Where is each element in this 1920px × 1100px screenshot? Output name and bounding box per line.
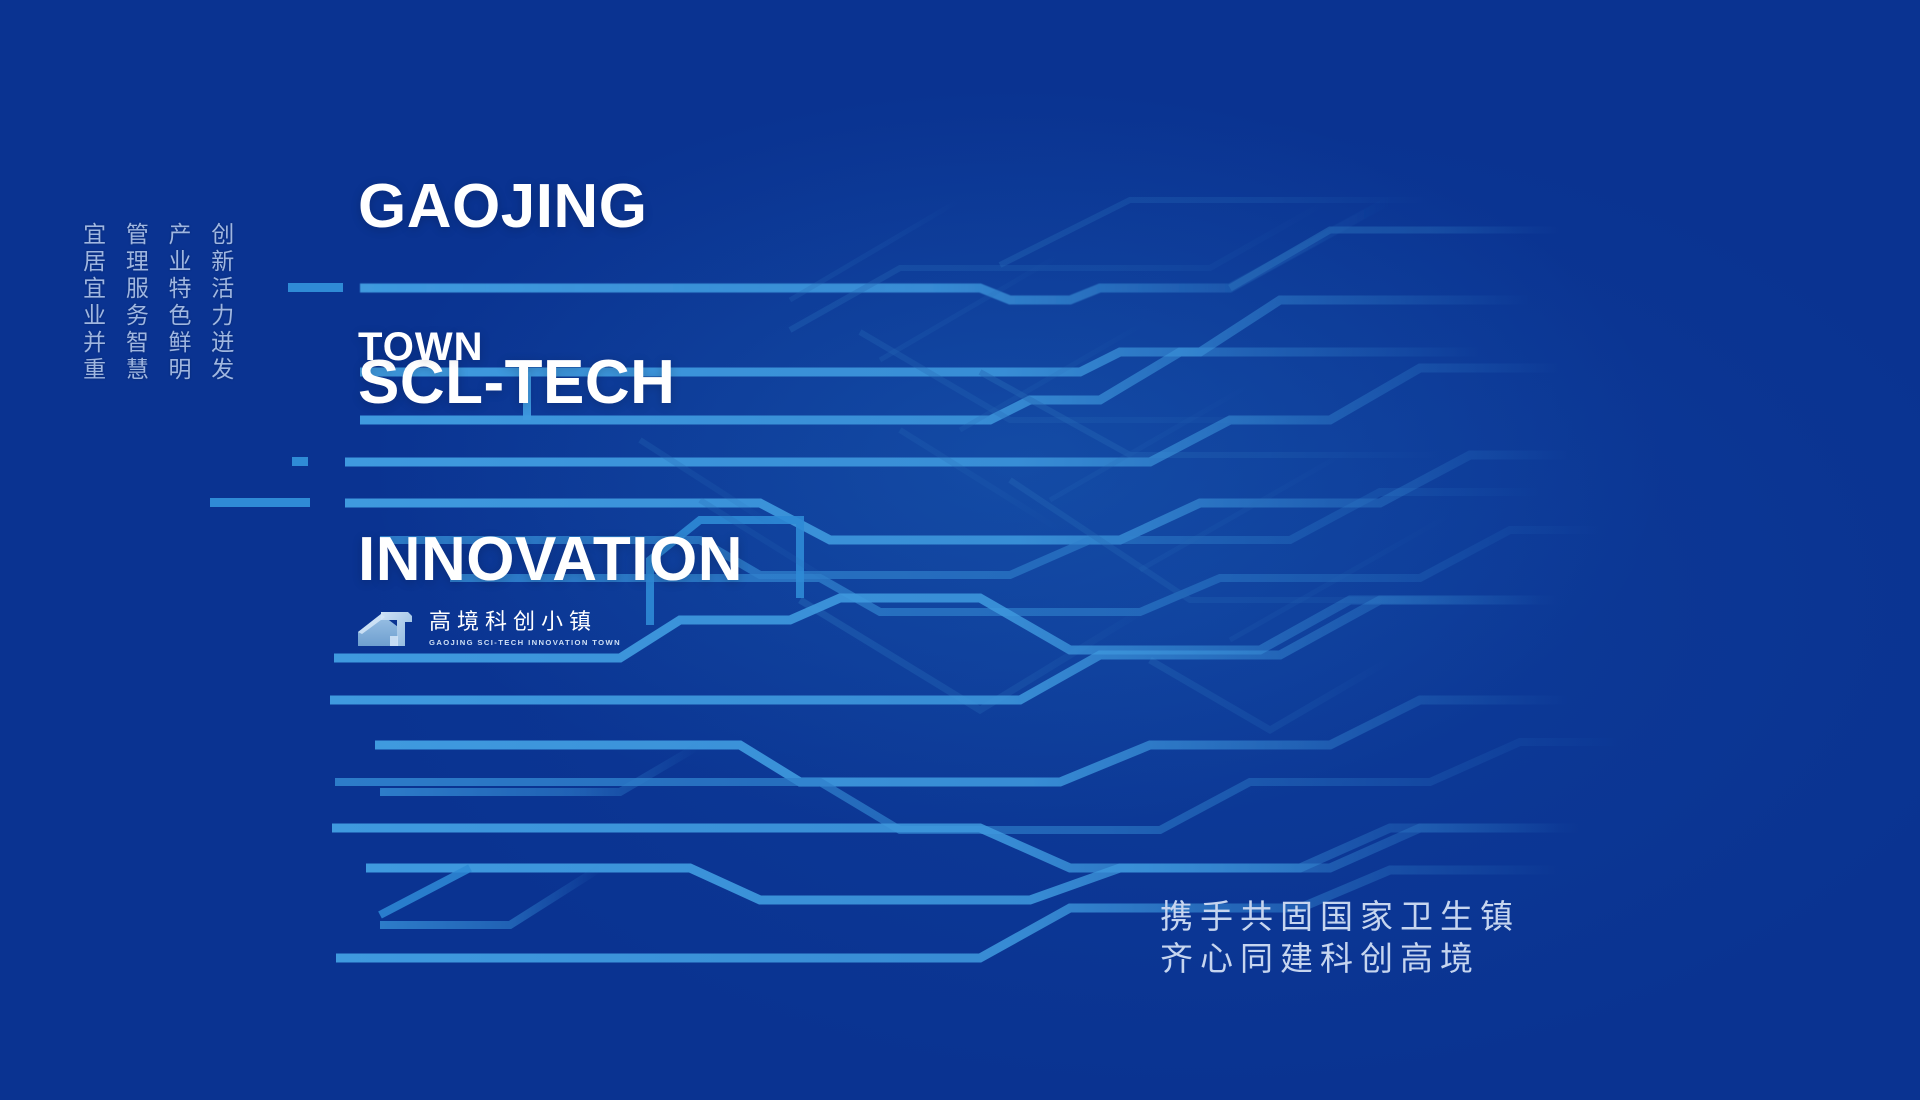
vertical-slogan: 创新活力迸发 产业特色鲜明 管理服务智慧 宜居宜业并重 (78, 222, 233, 384)
bottom-slogan-line-1: 携手共固国家卫生镇 (1160, 896, 1520, 938)
vertical-slogan-column: 创新活力迸发 (206, 222, 233, 384)
vertical-slogan-column: 产业特色鲜明 (163, 222, 190, 384)
house-building-icon (356, 606, 418, 652)
headline-line-1: GAOJING (358, 178, 743, 237)
logo-text-block: 高境科创小镇 GAOJING SCI-TECH INNOVATION TOWN (429, 611, 617, 647)
bottom-slogan: 携手共固国家卫生镇 齐心同建科创高境 (1160, 896, 1520, 980)
logo-chinese-name: 高境科创小镇 (429, 611, 617, 634)
logo-english-name: GAOJING SCI-TECH INNOVATION TOWN (429, 638, 621, 647)
headline-line-4: TOWN (358, 325, 483, 370)
vertical-slogan-column: 宜居宜业并重 (78, 222, 105, 384)
bottom-slogan-line-2: 齐心同建科创高境 (1160, 938, 1520, 980)
logo-lockup: 高境科创小镇 GAOJING SCI-TECH INNOVATION TOWN (356, 606, 617, 652)
poster-canvas: GAOJING SCL-TECH INNOVATION TOWN 创新活力迸发 … (0, 0, 1920, 1100)
headline-line-3: INNOVATION (358, 531, 743, 590)
vertical-slogan-column: 管理服务智慧 (121, 222, 148, 384)
circuit-pattern-graphic (0, 0, 1920, 1100)
